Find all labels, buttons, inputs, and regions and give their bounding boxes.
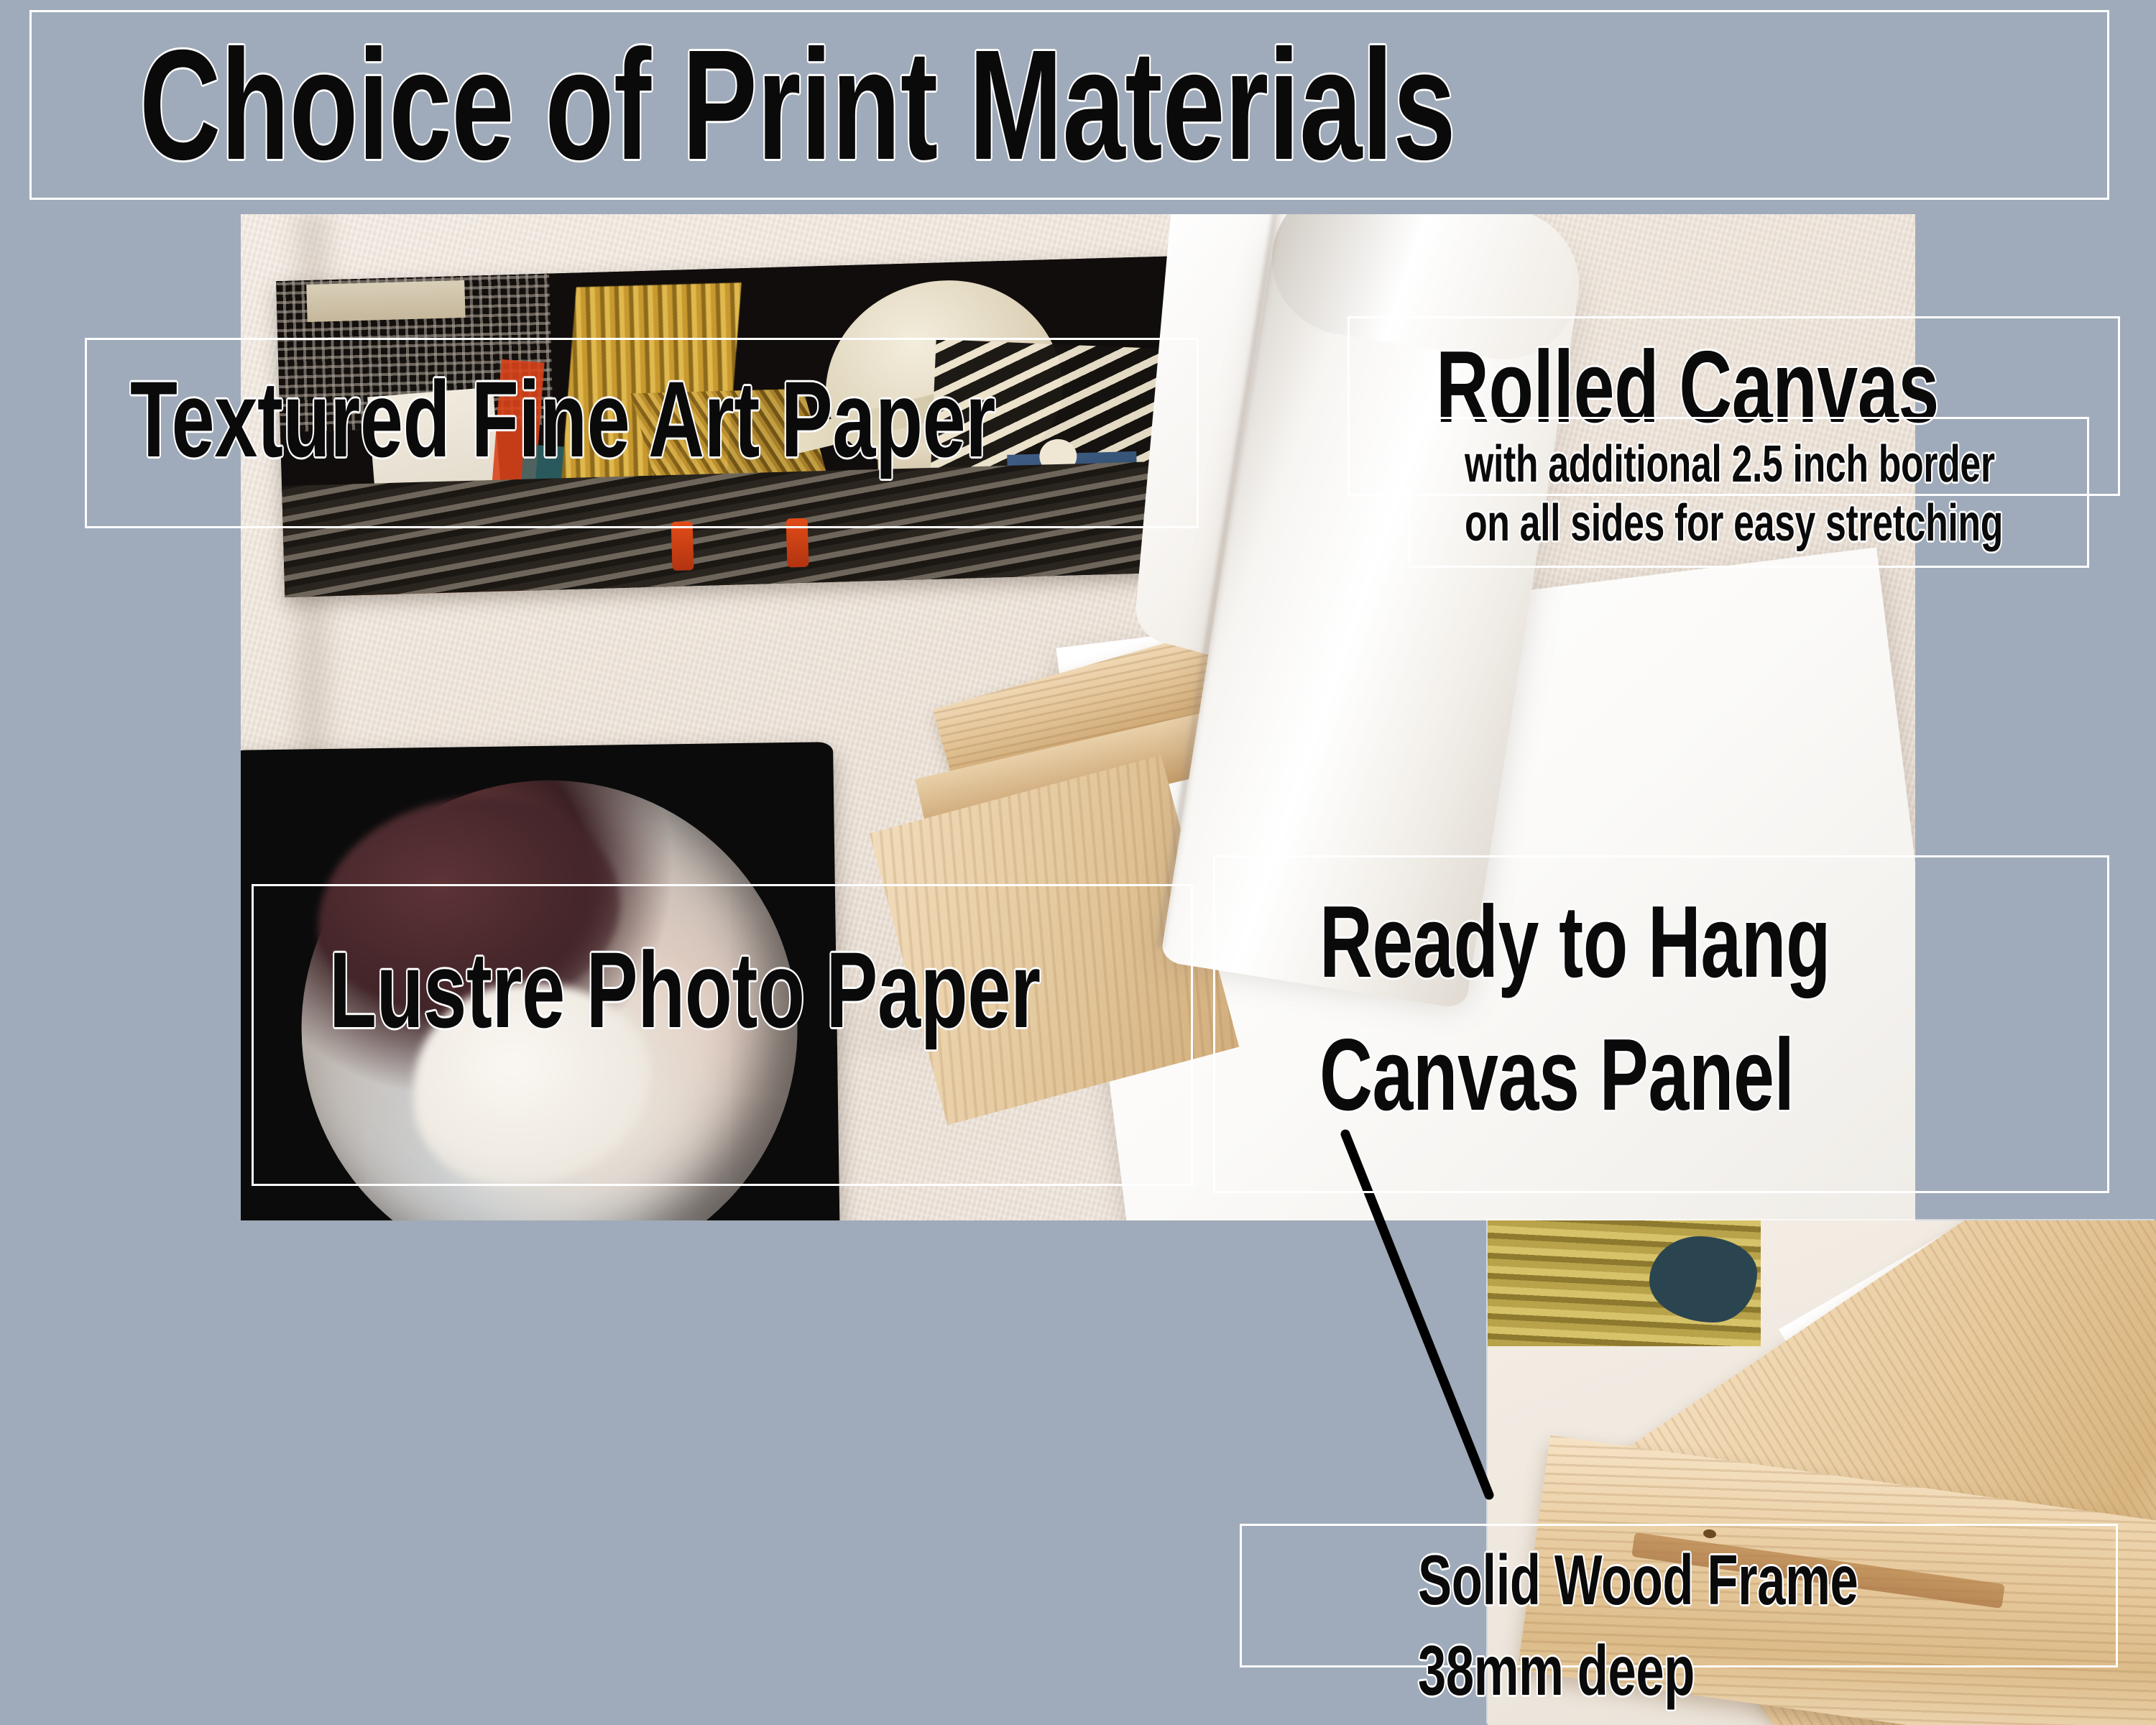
callout-subtitle-line-2: on all sides for easy stretching bbox=[1465, 494, 2003, 553]
callout-label-fine-art-paper: Textured Fine Art Paper bbox=[130, 359, 995, 479]
infographic-stage: Choice of Print Materials Textured Fine … bbox=[0, 0, 2156, 1725]
print-lantern bbox=[671, 521, 694, 571]
print-title-cartouche bbox=[306, 280, 465, 322]
callout-label-line-1: Solid Wood Frame bbox=[1418, 1535, 1858, 1625]
callout-label-solid-wood-frame: Solid Wood Frame 38mm deep bbox=[1418, 1535, 2029, 1716]
callout-subtitle-line-1: with additional 2.5 inch border bbox=[1465, 435, 2003, 494]
callout-label-ready-to-hang: Ready to Hang Canvas Panel bbox=[1319, 875, 2030, 1141]
callout-frame-fine-art-paper: Textured Fine Art Paper bbox=[85, 338, 1199, 528]
page-title-frame: Choice of Print Materials bbox=[29, 10, 2109, 200]
callout-label-line-2: Canvas Panel bbox=[1319, 1008, 1830, 1141]
page-title: Choice of Print Materials bbox=[139, 19, 1455, 192]
callout-frame-solid-wood-frame: Solid Wood Frame 38mm deep bbox=[1240, 1524, 2118, 1667]
callout-label-line-1: Ready to Hang bbox=[1319, 875, 1830, 1008]
callout-frame-ready-to-hang: Ready to Hang Canvas Panel bbox=[1213, 855, 2109, 1193]
callout-subtitle-rolled-canvas: with additional 2.5 inch border on all s… bbox=[1465, 435, 2156, 553]
callout-frame-lustre-photo-paper: Lustre Photo Paper bbox=[252, 884, 1193, 1186]
callout-frame-rolled-canvas-subtitle: with additional 2.5 inch border on all s… bbox=[1409, 417, 2089, 568]
callout-label-lustre-photo-paper: Lustre Photo Paper bbox=[329, 929, 1041, 1050]
callout-label-line-2: 38mm deep bbox=[1418, 1625, 1858, 1716]
